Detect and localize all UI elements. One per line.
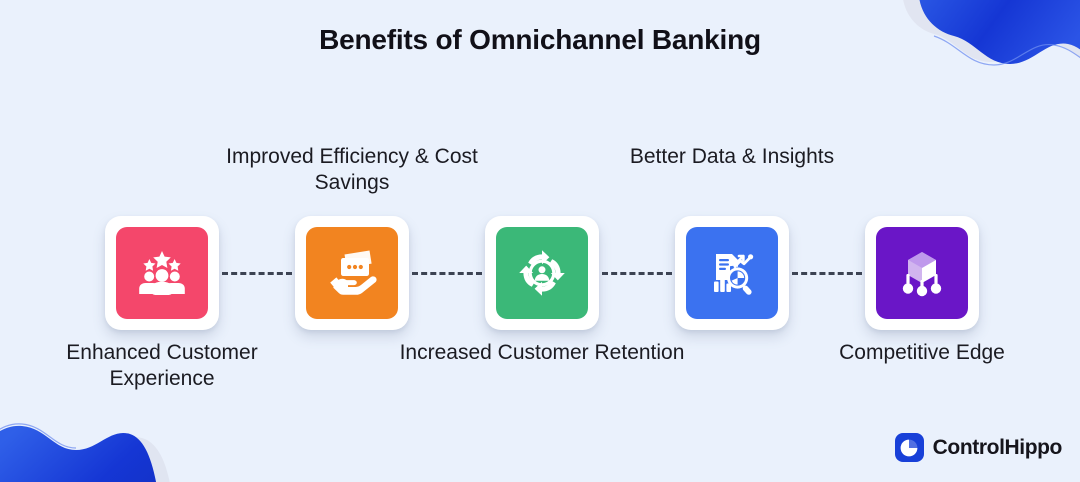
brand-name: ControlHippo [933, 436, 1062, 460]
user-cycle-icon [516, 247, 568, 299]
infographic-canvas: Benefits of Omnichannel Banking [0, 0, 1080, 482]
benefit-node-competitive-edge[interactable] [865, 216, 979, 330]
chart-magnifier-icon [706, 247, 758, 299]
icon-tile [686, 227, 778, 319]
icon-tile [496, 227, 588, 319]
benefit-label-improved-efficiency-cost-savings: Improved Efficiency & Cost Savings [202, 144, 502, 196]
benefit-node-improved-efficiency-cost-savings[interactable] [295, 216, 409, 330]
benefit-node-enhanced-customer-experience[interactable] [105, 216, 219, 330]
people-stars-icon [136, 247, 188, 299]
cube-network-icon [896, 247, 948, 299]
controlhippo-mark-icon [895, 433, 924, 462]
hand-cash-icon [325, 247, 379, 299]
page-title: Benefits of Omnichannel Banking [0, 24, 1080, 56]
icon-tile [876, 227, 968, 319]
benefit-node-increased-customer-retention[interactable] [485, 216, 599, 330]
benefit-label-enhanced-customer-experience: Enhanced Customer Experience [12, 340, 312, 392]
decorative-blob-bottom-left [0, 402, 174, 482]
benefit-label-competitive-edge: Competitive Edge [772, 340, 1072, 366]
icon-tile [306, 227, 398, 319]
benefit-label-increased-customer-retention: Increased Customer Retention [392, 340, 692, 366]
connector-line-2 [412, 272, 482, 275]
connector-line-1 [222, 272, 292, 275]
benefit-label-better-data-insights: Better Data & Insights [582, 144, 882, 170]
benefits-chain [0, 216, 1080, 330]
benefit-node-better-data-insights[interactable] [675, 216, 789, 330]
brand-logo[interactable]: ControlHippo [895, 433, 1062, 462]
icon-tile [116, 227, 208, 319]
connector-line-4 [792, 272, 862, 275]
connector-line-3 [602, 272, 672, 275]
